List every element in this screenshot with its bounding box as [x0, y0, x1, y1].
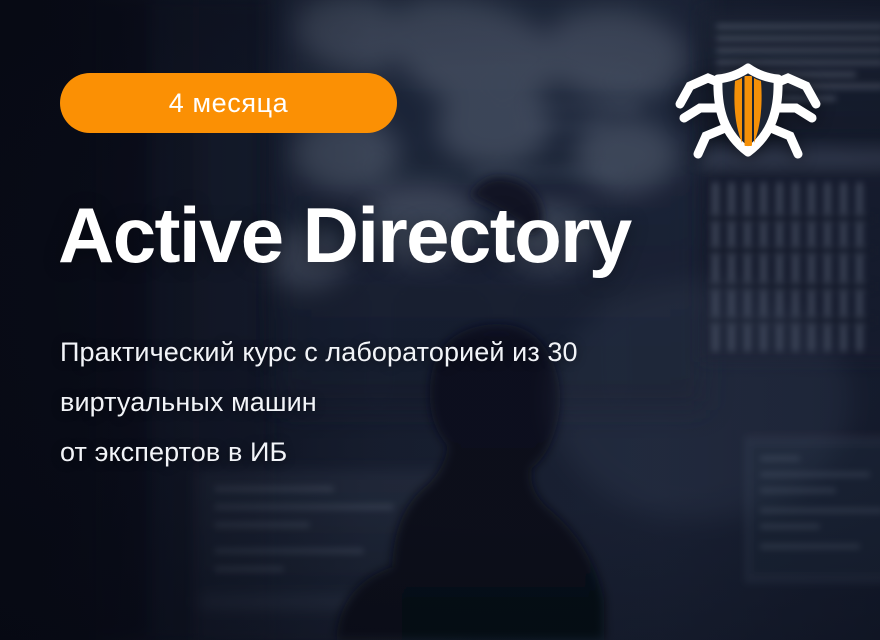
course-subtitle-line-2: виртуальных машин	[60, 377, 800, 427]
course-subtitle-line-3: от экспертов в ИБ	[60, 427, 800, 477]
duration-badge: 4 месяца	[60, 73, 397, 133]
course-subtitle-line-1: Практический курс с лабораторией из 30	[60, 327, 800, 377]
course-subtitle: Практический курс с лабораторией из 30 в…	[60, 327, 800, 477]
duration-badge-label: 4 месяца	[169, 90, 289, 117]
spider-shield-logo-icon	[672, 52, 824, 164]
course-title: Active Directory	[58, 196, 631, 274]
course-banner: 4 месяца Active Directory Практический к…	[0, 0, 880, 640]
banner-content: 4 месяца Active Directory Практический к…	[0, 0, 880, 640]
